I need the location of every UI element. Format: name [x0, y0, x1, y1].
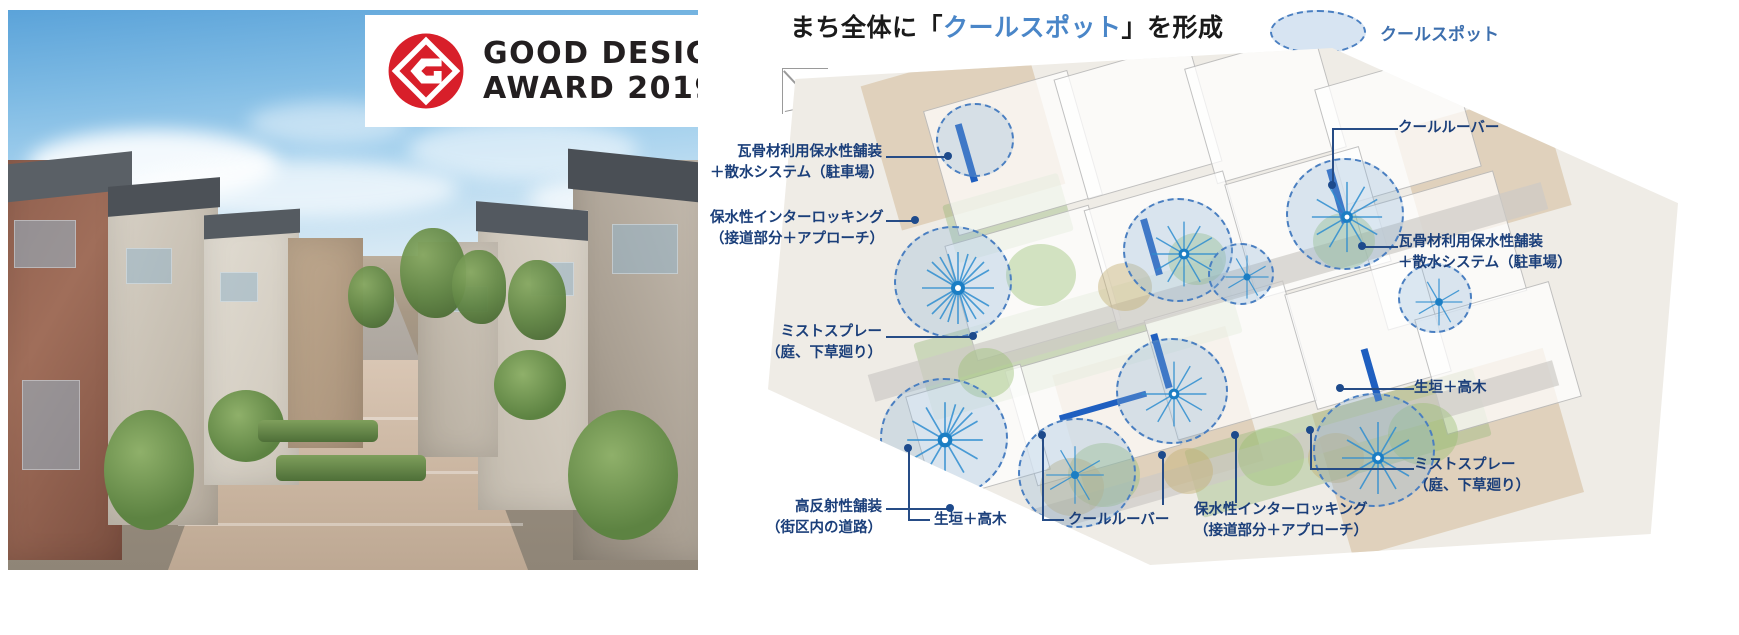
window: [220, 272, 258, 302]
leader-line: [1042, 519, 1064, 521]
mist-spray-icon: [1223, 253, 1271, 301]
shrub: [494, 350, 566, 420]
mist-spray-icon: [1413, 276, 1465, 328]
good-design-award-text: GOOD DESIGN AWARD 2019: [483, 36, 698, 107]
leader-line-vertical: [1310, 430, 1312, 468]
shrub: [568, 410, 678, 540]
leader-dot: [1328, 181, 1336, 189]
diagram-title: まち全体に「クールスポット」を形成: [790, 8, 1224, 44]
callout-interlocking-left: 保水性インターロッキング （接道部分＋アプローチ）: [710, 208, 882, 250]
leader-dot: [1231, 431, 1239, 439]
site-plan-map: [768, 48, 1678, 565]
callout-kawara-parking-left: 瓦骨材利用保水性舗装 ＋散水システム（駐車場）: [710, 142, 882, 184]
street-tree: [452, 250, 506, 324]
callout-line-1: ミストスプレー: [1414, 455, 1530, 476]
callout-line-1: 生垣＋高木: [934, 510, 1007, 531]
legend-label: クールスポット: [1380, 20, 1499, 45]
hedge: [276, 455, 426, 481]
callout-interlocking-bottom: 保水性インターロッキング （接道部分＋アプローチ）: [1194, 500, 1368, 542]
callout-line-2: （街区内の道路）: [710, 518, 882, 539]
leader-line: [1340, 388, 1414, 390]
mist-spray-icon: [1148, 218, 1220, 290]
leader-dot: [1158, 451, 1166, 459]
good-design-award-logo-icon: [387, 32, 465, 110]
good-design-award-badge: GOOD DESIGN AWARD 2019: [365, 15, 698, 127]
leader-dot: [944, 152, 952, 160]
callout-line-2: ＋散水システム（駐車場）: [1398, 253, 1572, 274]
callout-kawara-parking-right: 瓦骨材利用保水性舗装 ＋散水システム（駐車場）: [1398, 232, 1572, 274]
mist-spray-icon: [1138, 358, 1210, 430]
street-tree: [348, 266, 394, 328]
leader-line-vertical: [1042, 435, 1044, 520]
cool-spot-site-plan: まち全体に「クールスポット」を形成 クールスポット: [710, 0, 1739, 635]
title-highlight: クールスポット: [943, 13, 1122, 42]
leader-line-vertical: [1162, 455, 1164, 505]
leader-dot: [1306, 426, 1314, 434]
callout-high-reflective-pavement: 高反射性舗装 （街区内の道路）: [710, 497, 882, 539]
window: [612, 224, 678, 274]
leader-line-vertical: [908, 448, 910, 520]
leader-line: [1332, 128, 1398, 130]
callout-line-1: 生垣＋高木: [1414, 378, 1487, 399]
street-tree: [508, 260, 566, 340]
shrub: [104, 410, 194, 530]
legend-cool-spot: クールスポット: [1270, 10, 1499, 54]
badge-line-1: GOOD DESIGN: [483, 36, 698, 71]
callout-mist-spray-left: ミストスプレー （庭、下草廻り）: [710, 322, 882, 364]
leader-dot: [1358, 242, 1366, 250]
leader-line: [886, 336, 972, 338]
callout-line-1: クールルーバー: [1398, 118, 1499, 139]
walkway-joint: [178, 523, 523, 526]
hedge: [258, 420, 378, 442]
mist-spray-icon: [918, 248, 998, 328]
leader-dot: [969, 332, 977, 340]
callout-line-1: クールルーバー: [1068, 510, 1169, 531]
callout-line-1: 保水性インターロッキング: [710, 208, 882, 229]
leader-dot: [904, 444, 912, 452]
callout-line-1: 瓦骨材利用保水性舗装: [1398, 232, 1572, 253]
shrub-mass: [1163, 448, 1213, 494]
leader-dot: [911, 216, 919, 224]
callout-line-2: （接道部分＋アプローチ）: [1194, 521, 1368, 542]
callout-line-2: （庭、下草廻り）: [710, 343, 882, 364]
callout-mist-spray-right: ミストスプレー （庭、下草廻り）: [1414, 455, 1530, 497]
streetscape-photo: GOOD DESIGN AWARD 2019: [8, 10, 698, 570]
callout-cool-louver-right: クールルーバー: [1398, 118, 1499, 139]
leader-line: [1362, 246, 1398, 248]
cool-spot-zone: [936, 103, 1014, 177]
leader-line-vertical: [1332, 128, 1334, 186]
leader-dot: [1038, 431, 1046, 439]
mist-spray-icon: [903, 398, 987, 482]
tree-canopy: [1238, 428, 1304, 486]
callout-cool-louver-bottom: クールルーバー: [1068, 510, 1169, 531]
window: [22, 380, 80, 470]
house-left-4: [288, 238, 363, 448]
leader-line: [1310, 468, 1414, 470]
window: [14, 220, 76, 268]
leader-line: [886, 156, 946, 158]
legend-swatch-icon: [1270, 10, 1366, 54]
leader-dot: [1336, 384, 1344, 392]
page-root: GOOD DESIGN AWARD 2019 まち全体に「クールスポット」を形成…: [0, 0, 1739, 635]
leader-line: [908, 519, 930, 521]
window: [126, 248, 172, 284]
title-prefix: まち全体に「: [790, 13, 943, 42]
title-suffix: 」を形成: [1122, 13, 1224, 42]
tree-canopy: [1006, 244, 1076, 306]
mist-spray-icon: [1043, 443, 1107, 507]
leader-line-vertical: [1235, 435, 1237, 503]
callout-line-1: 高反射性舗装: [710, 497, 882, 518]
mist-spray-icon: [1308, 178, 1386, 256]
callout-line-1: 瓦骨材利用保水性舗装: [710, 142, 882, 163]
callout-hedge-tall-tree-right: 生垣＋高木: [1414, 378, 1487, 399]
badge-line-2: AWARD 2019: [483, 71, 698, 106]
callout-line-1: 保水性インターロッキング: [1194, 500, 1368, 521]
callout-line-2: ＋散水システム（駐車場）: [710, 163, 882, 184]
leader-line: [886, 220, 914, 222]
callout-hedge-tall-tree-bottom: 生垣＋高木: [934, 510, 1007, 531]
callout-line-1: ミストスプレー: [710, 322, 882, 343]
callout-line-2: （接道部分＋アプローチ）: [710, 229, 882, 250]
callout-line-2: （庭、下草廻り）: [1414, 476, 1530, 497]
mist-spray-icon: [1338, 418, 1418, 498]
